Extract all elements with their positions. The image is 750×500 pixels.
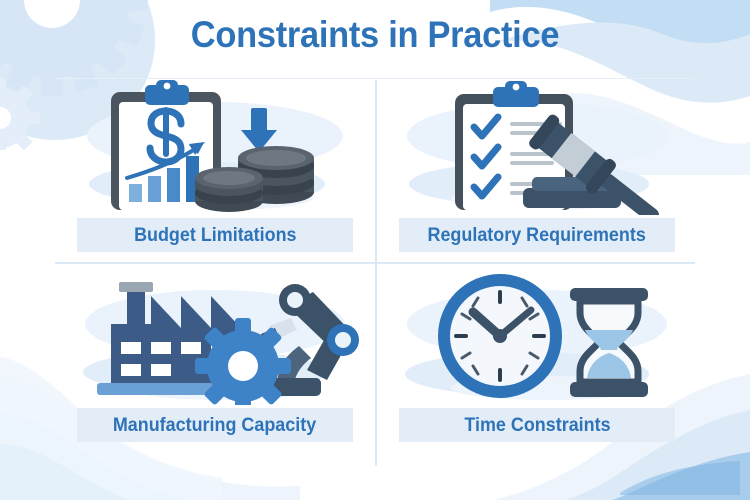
analog-clock-glyph — [438, 274, 562, 398]
constraints-grid: Budget Limitations — [55, 78, 695, 468]
cell-manufacturing[interactable]: Manufacturing Capacity — [55, 268, 375, 460]
cell-label-manufacturing: Manufacturing Capacity — [113, 414, 316, 437]
cell-budget[interactable]: Budget Limitations — [55, 78, 375, 270]
cell-label-regulatory: Regulatory Requirements — [428, 224, 646, 247]
cell-regulatory[interactable]: Regulatory Requirements — [377, 78, 697, 270]
cell-label-time: Time Constraints — [464, 414, 610, 437]
page-title-container: Constraints in Practice — [0, 14, 750, 56]
budget-illustration — [55, 80, 375, 215]
coin-stack-short — [195, 167, 263, 212]
label-band-manufacturing: Manufacturing Capacity — [77, 408, 353, 442]
label-band-budget: Budget Limitations — [77, 218, 353, 252]
clipboard-checklist-gavel-icon — [377, 80, 697, 215]
regulatory-illustration — [377, 80, 697, 215]
cell-time[interactable]: Time Constraints — [377, 268, 697, 460]
label-band-time: Time Constraints — [399, 408, 675, 442]
clipboard-dollar-bar-chart-coins-icon — [55, 80, 375, 215]
cell-label-budget: Budget Limitations — [134, 224, 296, 247]
time-illustration — [377, 270, 697, 405]
clock-hourglass-icon — [377, 270, 697, 405]
page-title: Constraints in Practice — [26, 14, 724, 56]
factory-gear-robot-arm-icon — [55, 270, 375, 405]
infographic-canvas: Constraints in Practice — [0, 0, 750, 500]
manufacturing-illustration — [55, 270, 375, 405]
label-band-regulatory: Regulatory Requirements — [399, 218, 675, 252]
